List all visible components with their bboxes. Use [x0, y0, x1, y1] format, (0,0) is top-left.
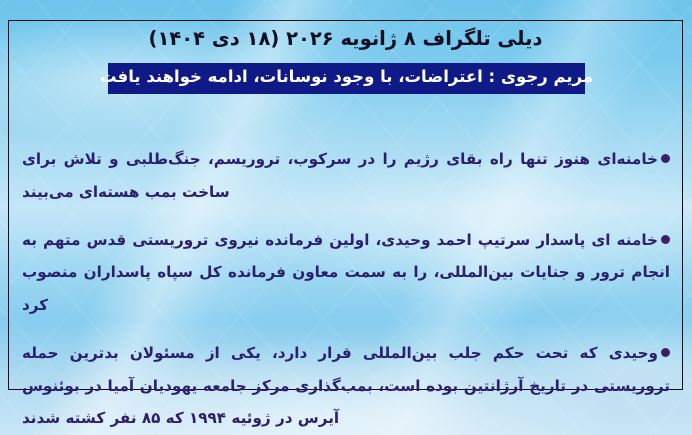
page-title: دیلی تلگراف ۸ ژانویه ۲۰۲۶ (۱۸ دی ۱۴۰۴) [8, 27, 683, 50]
subtitle-banner-text: مریم رجوی : اعتراضات، با وجود نوسانات، ا… [100, 69, 593, 88]
list-item: خامنه ای پاسدار سرتیپ احمد وحیدی، اولین … [22, 224, 670, 322]
bullet-dot-icon [661, 348, 670, 357]
list-item: وحیدی که تحت حکم جلب بین‌المللی قرار دار… [22, 337, 670, 435]
list-item-text: خامنه‌ای هنوز تنها راه بقای رژیم را در س… [22, 150, 658, 201]
poster-content: دیلی تلگراف ۸ ژانویه ۲۰۲۶ (۱۸ دی ۱۴۰۴) م… [0, 0, 692, 435]
list-item-text: خامنه ای پاسدار سرتیپ احمد وحیدی، اولین … [22, 231, 670, 314]
news-poster: دیلی تلگراف ۸ ژانویه ۲۰۲۶ (۱۸ دی ۱۴۰۴) م… [0, 0, 692, 435]
bullet-list: خامنه‌ای هنوز تنها راه بقای رژیم را در س… [22, 128, 670, 435]
list-item-text: وحیدی که تحت حکم جلب بین‌المللی قرار دار… [22, 344, 670, 427]
bullet-dot-icon [661, 235, 670, 244]
bullet-dot-icon [661, 154, 670, 163]
list-item: خامنه‌ای هنوز تنها راه بقای رژیم را در س… [22, 143, 670, 208]
subtitle-banner: مریم رجوی : اعتراضات، با وجود نوسانات، ا… [108, 63, 585, 94]
